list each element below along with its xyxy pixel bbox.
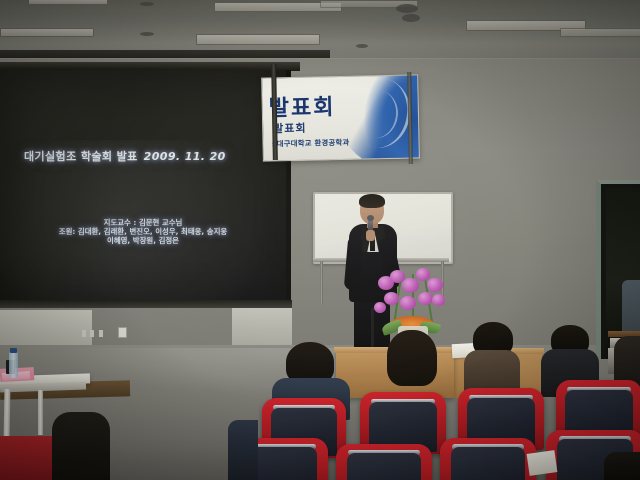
ceiling-light-fixture [560, 28, 640, 37]
orchid-bloom [374, 302, 386, 313]
orchid-bloom [384, 292, 399, 305]
auditorium-chair [336, 444, 432, 480]
event-banner: 발표회 발표회 :대구대학교 환경공학과 [261, 74, 420, 161]
orchid-bloom [418, 292, 433, 305]
water-bottle [9, 352, 18, 378]
audience-hair [387, 330, 437, 386]
slide-title: 대기실험조 학술회 발표2009. 11. 20 [24, 148, 260, 164]
banner-subtitle: 발표회 [273, 120, 307, 137]
wall-outlet-icon [99, 330, 103, 337]
orchid-bloom [402, 278, 419, 293]
wall-outlet-icon [90, 330, 94, 337]
projection-screen-bottom-bar [0, 300, 292, 308]
presenter-hair [359, 194, 385, 208]
orchid-bloom [427, 278, 443, 292]
water-bottle-cap [10, 348, 17, 353]
ceiling-light-fixture [0, 28, 94, 37]
orchid-bloom [400, 296, 416, 310]
chair-cushion [451, 447, 526, 480]
projection-screen [0, 70, 286, 304]
foreground-audience-member [228, 420, 258, 480]
ceiling-speaker-icon [396, 4, 418, 13]
wall-switch-icon [118, 327, 127, 338]
ceiling-light-fixture [196, 34, 320, 45]
slide-title-text: 대기실험조 학술회 발표 [24, 150, 138, 163]
banner-department: :대구대학교 환경공학과 [271, 137, 349, 150]
orchid-bloom [416, 268, 430, 281]
slide-members-line-2: 이혜영, 박장원, 김정은 [0, 235, 286, 246]
foreground-paper [527, 450, 558, 476]
audience-member [468, 322, 520, 394]
auditorium-chair [440, 438, 536, 480]
banner-department-text: 대구대학교 환경공학과 [277, 138, 350, 149]
ceiling-vent-icon [140, 2, 154, 6]
photo-scene: 대기실험조 학술회 발표2009. 11. 20 지도교수 : 김문현 교수님 … [0, 0, 640, 480]
ceiling-speaker-icon [402, 14, 420, 22]
ceiling-vent-icon [140, 32, 154, 36]
foreground-audience-member [52, 412, 110, 480]
foreground-audience-member [604, 452, 640, 480]
orchid-bloom [432, 294, 445, 306]
ceiling-vent-icon [356, 44, 368, 48]
slide-date: 2009. 11. 20 [144, 150, 226, 163]
presenter-hand [366, 230, 375, 241]
wall-outlet-icon [82, 330, 86, 337]
whiteboard-leg [320, 261, 323, 305]
audience-member [383, 330, 439, 388]
microphone-head-icon [367, 215, 374, 221]
ceiling-light-fixture [28, 0, 108, 5]
chair-cushion [347, 453, 422, 480]
banner-title: 발표회 [268, 89, 335, 122]
side-table-leg [4, 389, 11, 441]
side-table-leg [38, 390, 43, 435]
